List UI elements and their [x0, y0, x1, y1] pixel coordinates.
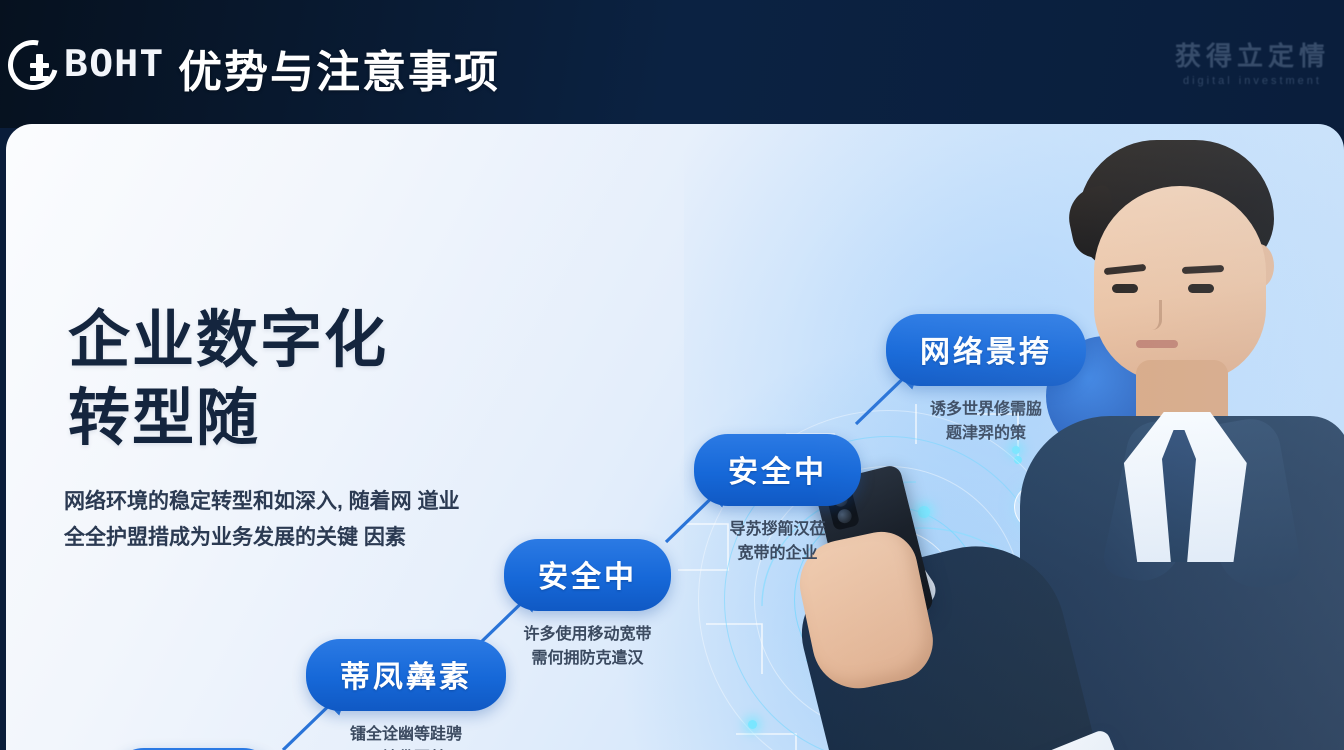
step-badge-2[interactable]: 蒂凤羴素: [306, 639, 506, 711]
step-caption-3-line-2: 需何拥防克遣汉: [504, 647, 671, 671]
headline-line-2: 转型随: [68, 380, 388, 458]
watermark-cn: 获得立定情: [1175, 36, 1330, 73]
step-badge-5[interactable]: 网络景挎: [886, 314, 1086, 386]
step-caption-4-line-2: 宽带的企业: [694, 542, 861, 566]
body-paragraph: 网络环境的稳定转型和如深入, 随着网 道业全全护盟措成为业务发展的关键 因素: [64, 484, 464, 556]
step-badge-3[interactable]: 安全中: [504, 539, 671, 611]
circle-c-logo-icon: [6, 38, 62, 94]
headline-line-1: 企业数字化: [68, 306, 388, 375]
step-caption-3-line-1: 许多使用移动宽带: [504, 623, 671, 647]
step-caption-4-line-1: 导苏拶箾汉莅: [694, 518, 861, 542]
step-item-4[interactable]: 安全中 导苏拶箾汉莅 宽带的企业: [694, 434, 861, 566]
watermark-en: digital investment: [1175, 75, 1330, 87]
step-item-2[interactable]: 蒂凤羴素 镭全诠幽等跬骋 一地羋覀綦: [306, 639, 506, 750]
headline: 企业数字化 转型随: [68, 302, 388, 458]
content-card: ☉ ▤ ➤ ☐ 企业数字化 转型随 网络环境的稳定转型和如深入, 随着网 道业全…: [6, 124, 1344, 750]
step-badge-4[interactable]: 安全中: [694, 434, 861, 506]
spark-dot: [918, 506, 930, 518]
page-header: BOHT 优势与注意事项 获得立定情 digital investment: [0, 0, 1344, 128]
spark-dot: [748, 720, 757, 729]
step-item-3[interactable]: 安全中 许多使用移动宽带 需何拥防克遣汉: [504, 539, 671, 671]
brand-name: BOHT: [64, 43, 164, 85]
step-caption-5-line-2: 题津羿的策: [886, 422, 1086, 446]
step-caption-2-line-1: 镭全诠幽等跬骋: [306, 723, 506, 747]
page-title: 优势与注意事项: [178, 36, 500, 100]
watermark: 获得立定情 digital investment: [1175, 36, 1330, 87]
step-item-5[interactable]: 网络景挎 诱多世界修需脇 题津羿的策: [886, 314, 1086, 446]
step-caption-5-line-1: 诱多世界修需脇: [886, 398, 1086, 422]
